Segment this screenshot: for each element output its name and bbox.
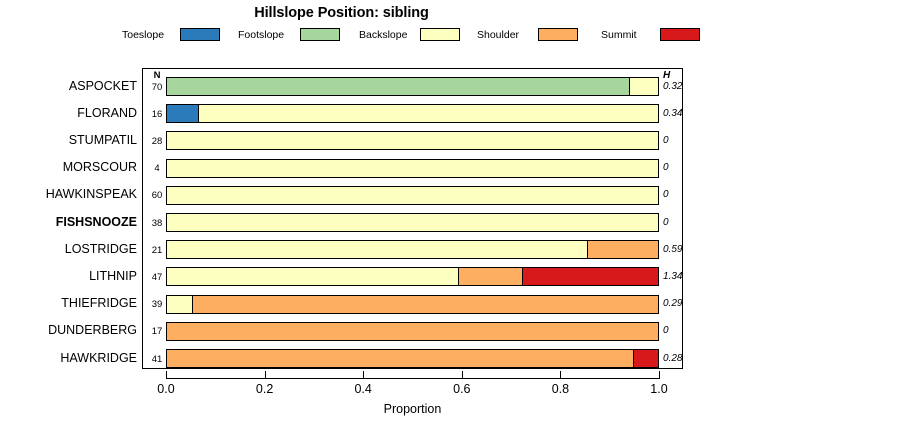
bar-segment-shoulder (459, 268, 523, 285)
stacked-bar-morscour (166, 159, 659, 178)
x-axis-title: Proportion (142, 402, 683, 416)
x-tick (462, 371, 463, 379)
legend-label-shoulder: Shoulder (477, 28, 519, 42)
n-value-fishsnooze: 38 (146, 218, 168, 229)
stacked-bar-hawkinspeak (166, 186, 659, 205)
n-value-hawkridge: 41 (146, 354, 168, 365)
n-value-stumpatil: 28 (146, 136, 168, 147)
row-label-thiefridge: THIEFRIDGE (0, 296, 137, 310)
x-tick-label: 0.8 (540, 382, 580, 396)
legend-label-summit: Summit (601, 28, 637, 42)
bar-segment-toeslope (167, 105, 199, 122)
legend: ToeslopeFootslopeBackslopeShoulderSummit (120, 27, 720, 43)
x-tick (265, 371, 266, 379)
bar-segment-shoulder (588, 241, 658, 258)
bar-segment-backslope (199, 105, 658, 122)
bar-segment-backslope (167, 187, 658, 204)
row-label-hawkinspeak: HAWKINSPEAK (0, 187, 137, 201)
x-tick (166, 371, 167, 379)
n-value-lithnip: 47 (146, 272, 168, 283)
row-label-stumpatil: STUMPATIL (0, 133, 137, 147)
n-value-florand: 16 (146, 109, 168, 120)
row-label-fishsnooze: FISHSNOOZE (0, 215, 137, 229)
stacked-bar-dunderberg (166, 322, 659, 341)
bar-segment-footslope (167, 78, 630, 95)
n-value-lostridge: 21 (146, 245, 168, 256)
row-label-lostridge: LOSTRIDGE (0, 242, 137, 256)
stacked-bar-fishsnooze (166, 213, 659, 232)
x-axis-line (166, 378, 659, 379)
page-title: Hillslope Position: sibling (0, 5, 683, 21)
row-label-aspocket: ASPOCKET (0, 79, 137, 93)
hillslope-position-chart-root: Hillslope Position: sibling ToeslopeFoot… (0, 0, 900, 440)
n-value-hawkinspeak: 60 (146, 190, 168, 201)
bar-segment-backslope (167, 160, 658, 177)
n-value-thiefridge: 39 (146, 299, 168, 310)
legend-swatch-backslope (420, 28, 460, 41)
legend-label-footslope: Footslope (238, 28, 284, 42)
stacked-bar-thiefridge (166, 295, 659, 314)
x-tick (363, 371, 364, 379)
x-tick-label: 0.0 (146, 382, 186, 396)
row-label-hawkridge: HAWKRIDGE (0, 351, 137, 365)
n-value-aspocket: 70 (146, 82, 168, 93)
bar-segment-shoulder (167, 323, 658, 340)
dendrogram (683, 68, 900, 369)
bar-segment-shoulder (167, 350, 634, 367)
stacked-bar-stumpatil (166, 131, 659, 150)
legend-swatch-footslope (300, 28, 340, 41)
legend-swatch-summit (660, 28, 700, 41)
n-value-dunderberg: 17 (146, 326, 168, 337)
legend-swatch-shoulder (538, 28, 578, 41)
x-tick-label: 0.6 (442, 382, 482, 396)
x-tick (560, 371, 561, 379)
x-tick-label: 1.0 (639, 382, 679, 396)
stacked-bar-aspocket (166, 77, 659, 96)
legend-label-backslope: Backslope (359, 28, 407, 42)
legend-label-toeslope: Toeslope (122, 28, 164, 42)
x-axis: 0.00.20.40.60.81.0 Proportion (142, 369, 683, 415)
row-label-dunderberg: DUNDERBERG (0, 323, 137, 337)
bar-segment-backslope (167, 268, 459, 285)
bar-segment-backslope (167, 132, 658, 149)
row-label-morscour: MORSCOUR (0, 160, 137, 174)
n-value-morscour: 4 (146, 163, 168, 174)
x-tick-label: 0.4 (343, 382, 383, 396)
bar-segment-summit (523, 268, 658, 285)
bar-segment-shoulder (193, 296, 658, 313)
stacked-bar-hawkridge (166, 349, 659, 368)
n-column-header: N (146, 70, 168, 81)
bar-segment-backslope (167, 214, 658, 231)
row-label-lithnip: LITHNIP (0, 269, 137, 283)
stacked-bar-lithnip (166, 267, 659, 286)
bar-segment-backslope (167, 241, 588, 258)
bar-segment-backslope (167, 296, 193, 313)
x-tick-label: 0.2 (245, 382, 285, 396)
bar-segment-summit (634, 350, 658, 367)
bar-segment-backslope (630, 78, 658, 95)
x-tick (659, 371, 660, 379)
row-label-florand: FLORAND (0, 106, 137, 120)
legend-swatch-toeslope (180, 28, 220, 41)
stacked-bar-florand (166, 104, 659, 123)
stacked-bar-lostridge (166, 240, 659, 259)
